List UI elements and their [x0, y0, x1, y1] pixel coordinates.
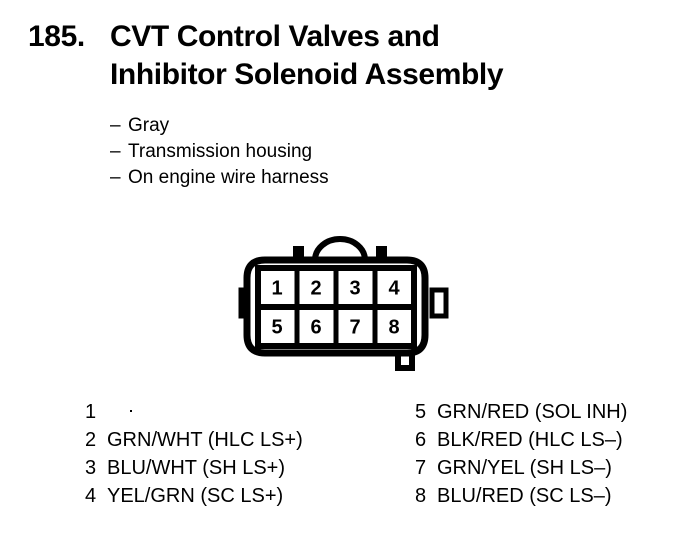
attribute-location: Transmission housing [128, 139, 312, 165]
attribute-color: Gray [128, 113, 169, 139]
side-tab-right-icon [432, 290, 446, 316]
pin-cell-6: 6 [310, 316, 321, 338]
legend-pin-desc: BLK/RED (HLC LS–) [437, 426, 623, 454]
legend-pin-number: 1 [85, 398, 107, 426]
pin-cell-4: 4 [388, 277, 400, 299]
legend-pin-number: 8 [415, 482, 437, 510]
legend-pin-desc: BLU/WHT (SH LS+) [107, 454, 285, 482]
legend-pin-number: 4 [85, 482, 107, 510]
legend-row: 6 BLK/RED (HLC LS–) [415, 426, 675, 454]
pin-cell-8: 8 [388, 316, 399, 338]
attribute-list: – Gray – Transmission housing – On engin… [110, 113, 329, 191]
legend-pin-desc: GRN/WHT (HLC LS+) [107, 426, 303, 454]
dash-icon: – [110, 113, 128, 139]
title-text-1: CVT Control Valves and [110, 18, 668, 56]
list-item: – Transmission housing [110, 139, 329, 165]
list-item: – On engine wire harness [110, 165, 329, 191]
legend-pin-number: 2 [85, 426, 107, 454]
pin-cell-1: 1 [271, 277, 282, 299]
legend-row: 1 [85, 398, 415, 426]
legend-pin-desc: YEL/GRN (SC LS+) [107, 482, 283, 510]
pin-legend: 1 2 GRN/WHT (HLC LS+) 3 BLU/WHT (SH LS+)… [85, 398, 675, 510]
pin-cell-3: 3 [349, 277, 360, 299]
pin-cell-7: 7 [349, 316, 360, 338]
title-text-2: Inhibitor Solenoid Assembly [110, 56, 668, 94]
connector-svg: 1 2 3 4 5 6 7 8 [236, 232, 452, 377]
legend-pin-desc: BLU/RED (SC LS–) [437, 482, 612, 510]
legend-pin-number: 5 [415, 398, 437, 426]
list-item: – Gray [110, 113, 329, 139]
scan-artifact-dot [130, 410, 132, 412]
page-title: 185. CVT Control Valves and Inhibitor So… [28, 18, 668, 94]
pin-legend-right-column: 5 GRN/RED (SOL INH) 6 BLK/RED (HLC LS–) … [415, 398, 675, 510]
title-item-number: 185. [28, 18, 110, 56]
legend-row: 4 YEL/GRN (SC LS+) [85, 482, 415, 510]
connector-diagram: 1 2 3 4 5 6 7 8 [236, 232, 452, 377]
pin-cell-5: 5 [271, 316, 282, 338]
pin-legend-left-column: 1 2 GRN/WHT (HLC LS+) 3 BLU/WHT (SH LS+)… [85, 398, 415, 510]
legend-pin-number: 6 [415, 426, 437, 454]
legend-row: 2 GRN/WHT (HLC LS+) [85, 426, 415, 454]
pin-cell-2: 2 [310, 277, 321, 299]
dash-icon: – [110, 139, 128, 165]
legend-pin-number: 3 [85, 454, 107, 482]
legend-pin-desc: GRN/YEL (SH LS–) [437, 454, 612, 482]
attribute-harness: On engine wire harness [128, 165, 329, 191]
dash-icon: – [110, 165, 128, 191]
legend-row: 3 BLU/WHT (SH LS+) [85, 454, 415, 482]
legend-pin-desc: GRN/RED (SOL INH) [437, 398, 627, 426]
legend-pin-number: 7 [415, 454, 437, 482]
title-line-1: 185. CVT Control Valves and [28, 18, 668, 56]
legend-row: 7 GRN/YEL (SH LS–) [415, 454, 675, 482]
title-line-2: Inhibitor Solenoid Assembly [28, 56, 668, 94]
legend-row: 5 GRN/RED (SOL INH) [415, 398, 675, 426]
legend-row: 8 BLU/RED (SC LS–) [415, 482, 675, 510]
